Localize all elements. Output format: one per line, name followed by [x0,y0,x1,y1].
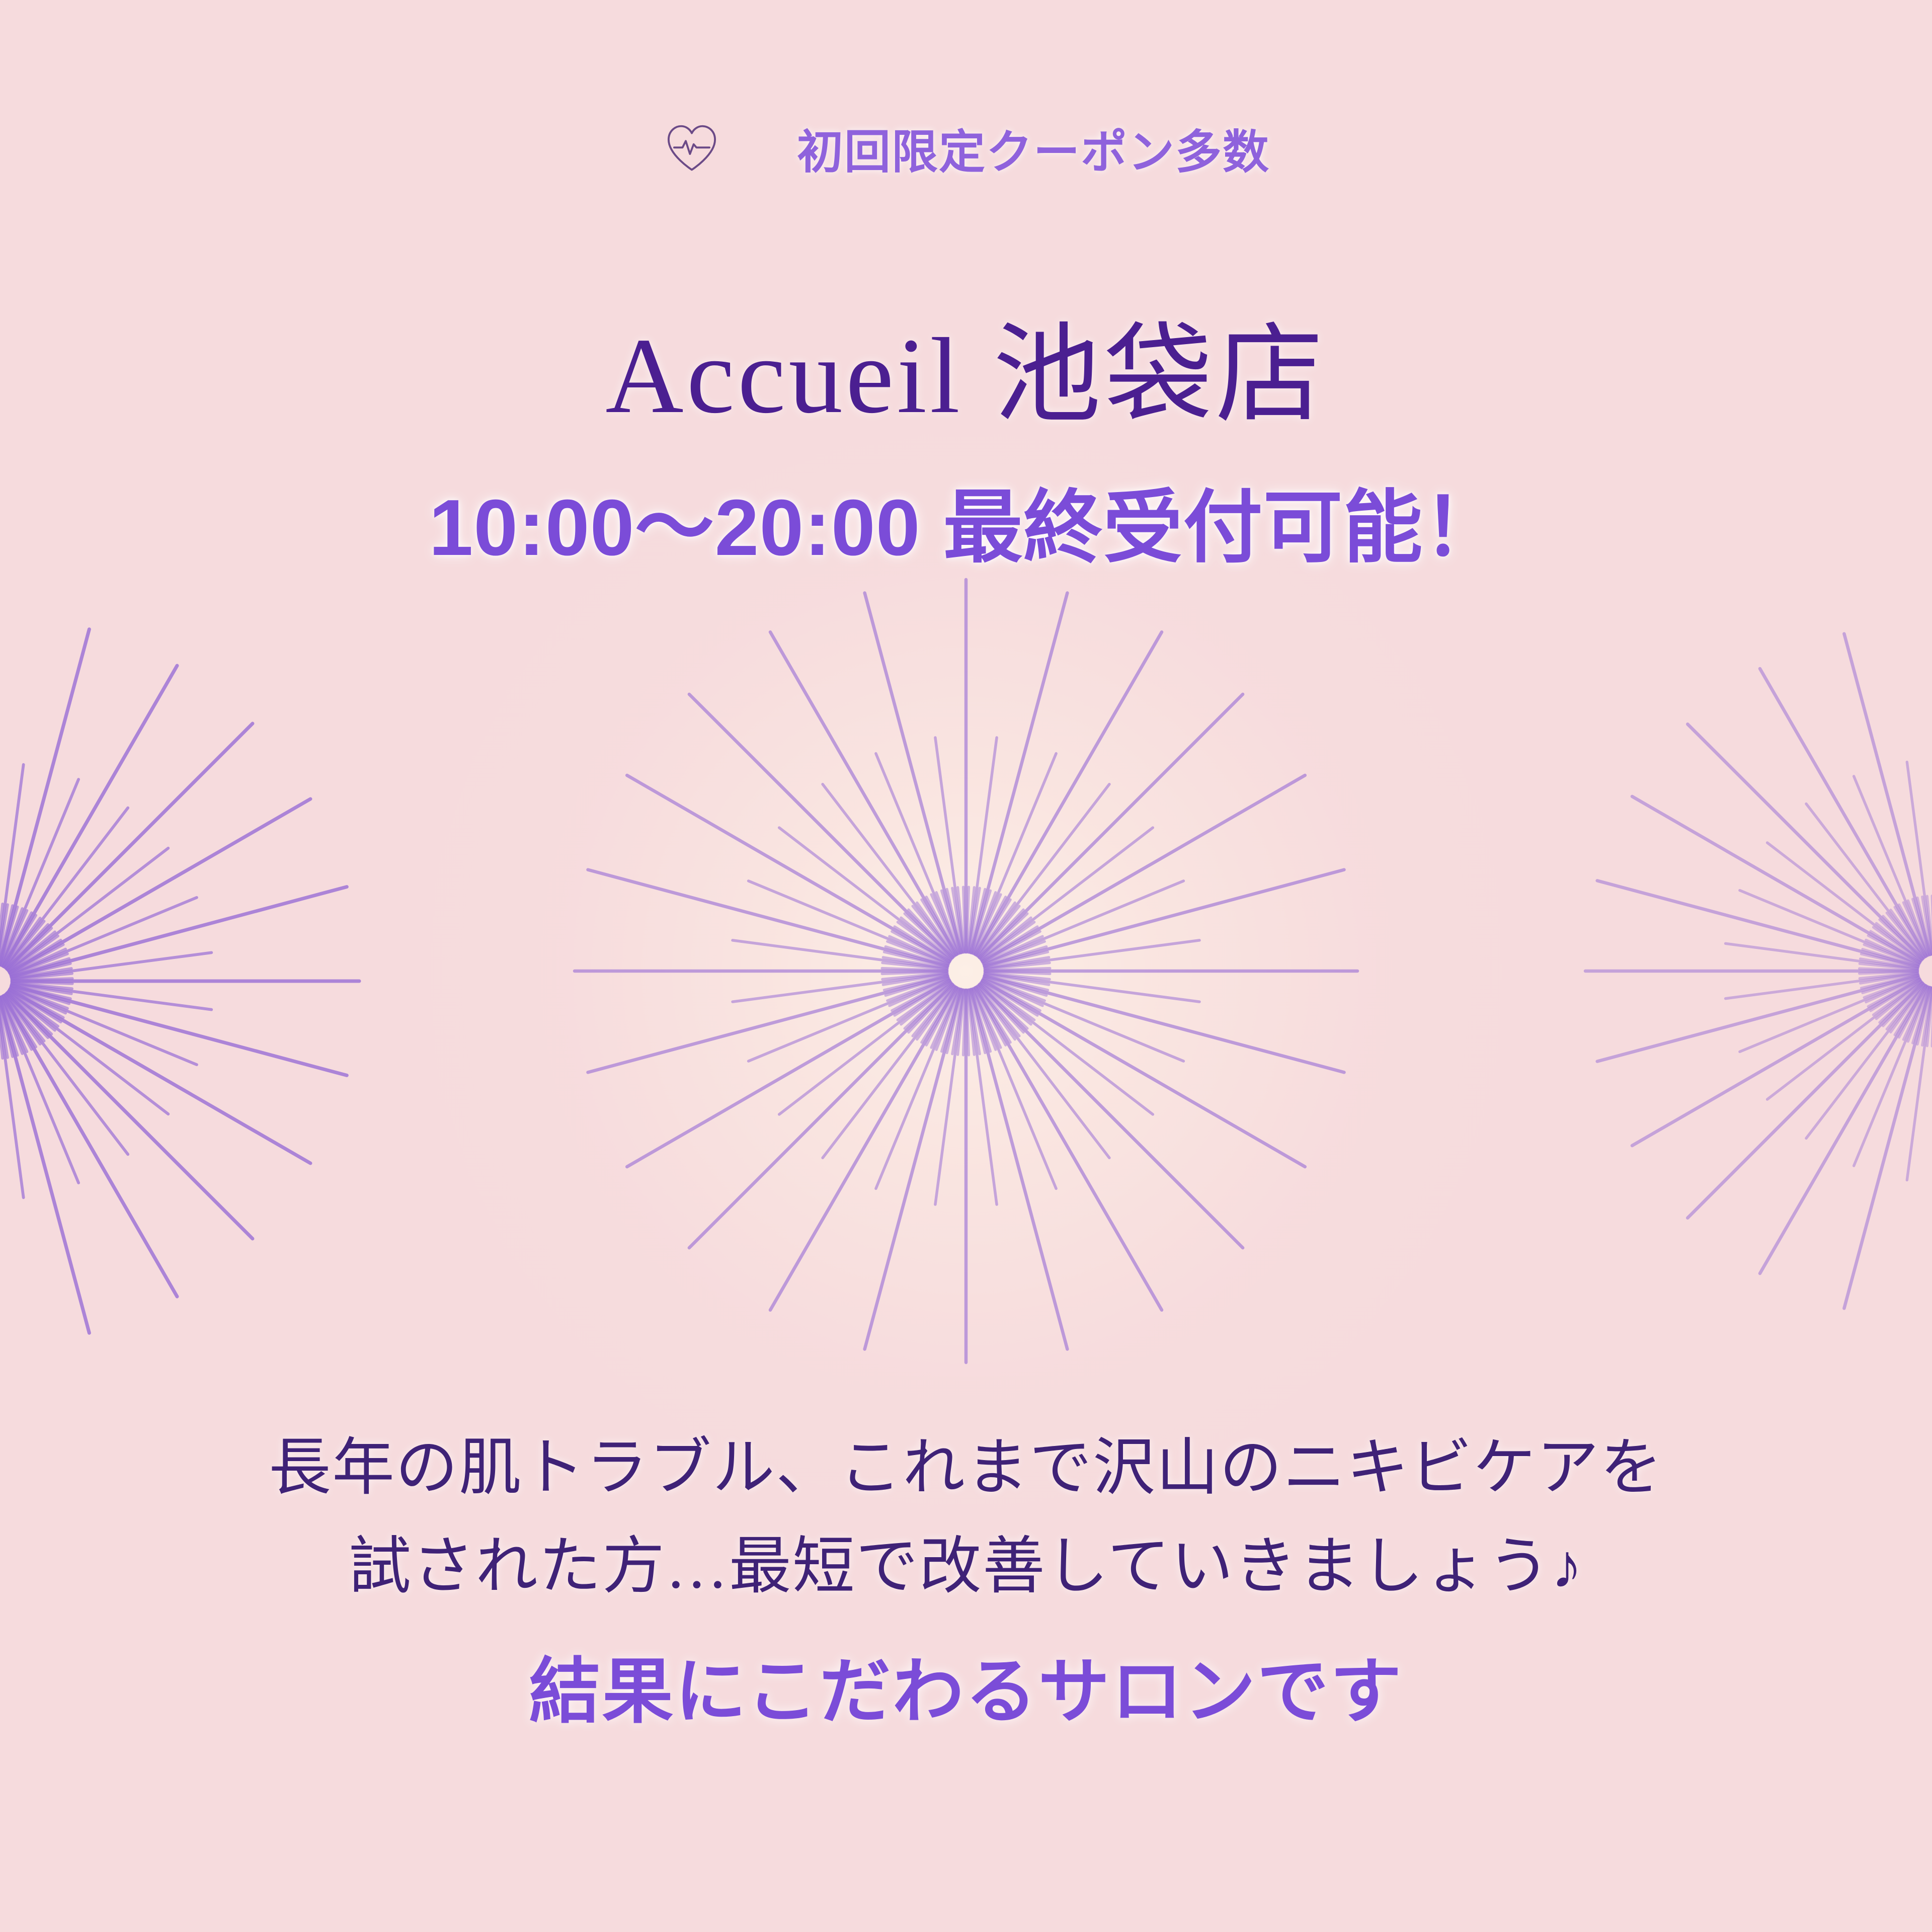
starburst-ray [917,903,955,955]
starburst-ray [4,995,36,1046]
starburst-ray [972,989,991,1052]
starburst-ray [926,988,957,1045]
starburst-ray [917,986,955,1039]
starburst-ray [1873,927,1920,961]
starburst-ray [770,632,956,954]
starburst-ray [977,903,1015,955]
starburst-ray [1868,936,1919,963]
starburst-ray [975,897,1006,954]
starburst-ray [883,974,947,985]
starburst-ray [942,891,961,953]
starburst-ray [11,988,197,1065]
starburst-ray [892,980,949,1011]
starburst-ray [969,738,997,952]
starburst-ray [974,895,1001,954]
starburst-ray [1891,985,1925,1032]
starburst-ray [1863,976,1918,993]
starburst-right [1557,594,1932,1348]
starburst-ray [12,952,212,979]
starburst-ray [588,870,948,967]
starburst-ray [882,973,947,980]
starburst-ray [11,985,70,999]
starburst-ray [980,984,1027,1028]
starburst-ray [892,931,949,962]
starburst-ray [952,888,963,952]
starburst-ray [898,982,950,1020]
starburst-ray [1861,974,1918,983]
starburst-ray [770,988,956,1310]
starburst-ray [1917,987,1930,1044]
starburst-ray [984,975,1048,990]
starburst-ray [985,974,1049,985]
starburst-ray [985,963,1050,970]
starburst-ray [588,976,948,1073]
starburst-ray [963,990,965,1055]
starburst-ray [0,997,13,1057]
starburst-ray [823,784,954,956]
starburst-ray [884,975,947,990]
starburst-ray [978,986,1109,1158]
page-title: Accueil 池袋店 [0,287,1932,443]
starburst-ray [10,944,63,973]
starburst-ray [979,985,1023,1032]
starburst-ray [779,828,951,959]
starburst-ray [981,983,1031,1024]
starburst-ray [968,888,975,952]
starburst-ray [10,799,310,973]
starburst-ray [1873,981,1920,1015]
starburst-ray [1927,896,1932,954]
starburst-ray [888,978,948,1001]
starburst-ray [971,990,1068,1349]
tagline-block: 長年の肌トラブル、これまで沢山のニキビケアを 試された方…最短で改善していきまし… [0,1419,1932,1737]
starburst-ray [1844,988,1930,1309]
starburst-ray [0,765,24,964]
starburst-ray [4,996,177,1297]
starburst-ray [1927,988,1932,1046]
starburst-ray [1854,776,1928,955]
starburst-left [0,579,397,1384]
starburst-ray [895,981,950,1016]
starburst-ray [905,984,952,1028]
starburst-ray [973,989,996,1050]
starburst-ray [1760,669,1926,956]
starburst-ray [0,997,18,1055]
starburst-ray [7,925,48,969]
starburst-ray [1726,943,1918,969]
starburst-ray [733,974,947,1002]
starburst-ray [1,909,23,965]
starburst-ray [947,989,961,1053]
starburst-ray [7,723,253,969]
starburst-ray [1871,980,1920,1011]
starburst-ray [9,848,168,971]
starburst-ray [898,922,950,960]
starburst-ray [968,990,975,1055]
starburst-ray [11,987,67,1009]
starburst-ray [1903,986,1927,1039]
tagline-line-1: 長年の肌トラブル、これまで沢山のニキビケアを [0,1419,1932,1517]
starburst-ray [984,947,1046,966]
starburst-ray [2,996,27,1052]
starburst-ray [6,808,128,968]
starburst-ray [1860,973,1918,978]
starburst-ray [11,958,69,976]
starburst-ray [913,986,954,1036]
starburst-ray [7,928,51,970]
starburst-ray [909,985,953,1032]
starburst-ray [749,979,948,1062]
starburst-ray [886,947,948,966]
starburst-ray [11,963,70,977]
starburst-ray [1740,978,1919,1052]
starburst-ray [12,983,72,989]
starburst-ray [5,995,40,1044]
starburst-ray [9,940,60,973]
starburst-ray [983,936,1042,963]
starburst-ray [978,784,1109,956]
starburst-ray [984,881,1183,964]
starburst-ray [1876,982,1921,1019]
starburst-ray [12,969,71,979]
starburst-ray [6,994,44,1041]
starburst-ray [865,593,961,953]
starburst-ray [969,990,997,1204]
starburst-ray [1767,982,1921,1099]
starburst-ray [1687,724,1922,959]
starburst-ray [970,889,985,952]
starburst-ray [11,986,69,1004]
starburst-ray [3,913,32,966]
starburst-ray [942,989,961,1052]
starburst-ray [952,990,963,1054]
starburst-ray [8,992,55,1030]
starburst-ray [890,936,949,963]
tagline-line-3: 結果にこだわるサロンです [0,1633,1932,1737]
starburst-ray [1597,976,1918,1062]
starburst-ray [1917,898,1930,954]
starburst-ray [971,593,1068,953]
starburst-ray [6,995,128,1154]
starburst-ray [1632,980,1920,1146]
starburst-ray [985,957,1049,968]
starburst-ray [905,914,952,958]
starburst-ray [981,983,1153,1114]
starburst-ray [982,981,1037,1016]
starburst-ray [913,906,954,956]
starburst-ray [0,998,8,1058]
starburst-ray [1740,891,1919,964]
starburst-ray [1880,983,1922,1022]
starburst-ray [974,988,1001,1048]
starburst-ray [970,989,985,1053]
starburst-ray [1903,903,1927,956]
starburst-ray [882,972,947,974]
starburst-ray [978,986,1019,1036]
starburst-ray [1863,949,1918,967]
starburst-ray [10,988,65,1013]
starburst-ray [882,963,947,970]
starburst-ray [976,900,1011,955]
starburst-ray [901,983,951,1024]
starburst-ray [0,907,18,965]
starburst-ray [984,952,1048,967]
starburst-ray [975,988,1006,1045]
starburst-ray [1806,985,1924,1138]
starburst-ray [983,981,1305,1167]
starburst-ray [1922,988,1932,1045]
starburst-ray [1844,634,1930,955]
starburst-ray [967,887,969,952]
starburst-ray [935,990,963,1204]
starburst-ray [4,666,177,967]
starburst-ray [0,998,24,1198]
starburst-ray [876,989,959,1188]
starburst-ray [733,940,947,969]
starburst-ray [976,988,1162,1310]
starburst-ray [883,957,947,968]
starburst-ray [12,982,72,984]
starburst-ray [1861,975,1918,988]
tagline-line-2: 試された方…最短で改善していきましょう♪ [0,1517,1932,1616]
starburst-ray [627,775,949,961]
starburst-ray [627,981,949,1167]
starburst-ray [865,990,961,1349]
starburst-ray [1597,880,1918,967]
starburst-ray [947,889,961,952]
starburst-ray [10,989,63,1018]
starburst-ray [884,952,947,967]
starburst-center [538,543,1394,1399]
starburst-ray [976,987,1011,1042]
starburst-ray [1899,905,1927,956]
starburst-ray [980,694,1243,957]
starburst-ray [3,996,32,1049]
heart-pulse-icon [662,119,721,178]
starburst-ray [983,775,1305,961]
starburst-ray [12,974,72,980]
starburst-ray [1895,985,1925,1035]
starburst-ray [876,754,959,953]
starburst-ray [1908,901,1928,955]
starburst-ray [979,910,1023,957]
starburst-ray [11,954,67,976]
starburst-ray [985,976,1344,1073]
starburst-ray [985,940,1199,969]
starburst-ray [749,881,948,964]
starburst-ray [1687,983,1922,1218]
starburst-ray [1861,954,1918,967]
starburst-ray [984,977,1046,996]
starburst-ray [981,922,1034,960]
starburst-ray [981,828,1153,959]
starburst-ray [969,888,980,952]
starburst-ray [1864,944,1919,965]
starburst-ray [1806,804,1924,957]
starburst-ray [936,893,959,953]
starburst-ray [1,997,23,1054]
starburst-ray [9,991,58,1026]
starburst-ray [1883,916,1923,959]
starburst-ray [931,988,958,1048]
starburst-ray [1871,931,1920,962]
starburst-ray [4,915,36,967]
starburst-ray [7,993,253,1239]
starburst-ray [974,754,1057,953]
starburst-ray [1913,987,1930,1043]
starburst-ray [909,910,953,957]
promo-poster: 初回限定クーポン多数 Accueil 池袋店 10:00〜20:00 最終受付可… [0,0,1932,1932]
starburst-ray [1907,762,1932,954]
starburst-ray [936,989,959,1050]
starburst-ray [1767,843,1921,960]
starburst-ray [974,989,1057,1188]
starburst-center-svg [538,543,1394,1399]
starburst-ray [7,993,48,1037]
starburst-ray [2,779,78,965]
starburst-right-svg [1557,594,1932,1348]
starburst-ray [0,629,89,964]
starburst-ray [9,990,60,1022]
starburst-ray [12,983,212,1009]
starburst-ray [967,990,969,1055]
starburst-ray [890,979,949,1006]
starburst-ray [969,990,980,1054]
starburst-ray [931,895,958,954]
starburst-ray [985,870,1344,967]
starburst-ray [980,985,1243,1248]
starburst-ray [985,972,1050,974]
starburst-ray [1922,897,1932,955]
starburst-ray [981,918,1031,959]
starburst-ray [963,887,965,952]
starburst-ray [935,738,963,952]
starburst-ray [0,906,13,965]
starburst-ray [1876,923,1921,960]
starburst-ray [1632,796,1920,962]
starburst-ray [978,906,1019,956]
starburst-ray [1908,987,1928,1041]
starburst-ray [6,921,44,968]
starburst-ray [983,931,1040,962]
starburst-ray [981,982,1034,1020]
starburst-ray [9,992,168,1114]
starburst-ray [1860,969,1918,971]
starburst-ray [972,891,991,953]
starburst-ray [2,997,78,1183]
starburst-ray [1913,899,1930,955]
starburst-ray [982,927,1037,961]
starburst-ray [12,979,72,981]
starburst-ray [0,905,8,964]
business-hours: 10:00〜20:00 最終受付可能！ [0,463,1932,578]
starburst-ray [1883,983,1923,1026]
starburst-ray [823,986,954,1158]
starburst-ray [1864,977,1919,998]
starburst-ray [689,694,952,957]
starburst-ray [1866,978,1919,1002]
starburst-ray [973,893,996,953]
starburst-ray [12,986,347,1076]
starburst-ray [977,986,1015,1039]
starburst-ray [10,990,310,1163]
starburst-ray [1860,972,1918,974]
starburst-ray [984,941,1044,964]
starburst-ray [1907,988,1932,1180]
starburst-ray [11,898,197,975]
coupon-badge-text: 初回限定クーポン多数 [797,115,1270,182]
starburst-ray [958,888,964,952]
starburst-ray [985,969,1050,971]
starburst-ray [1861,959,1918,969]
starburst-ray [926,897,957,954]
starburst-ray [5,918,40,968]
starburst-ray [10,949,65,974]
starburst-ray [984,979,1183,1062]
starburst-ray [976,632,1162,954]
starburst-ray [7,993,51,1034]
starburst-ray [1895,907,1925,957]
starburst-ray [1887,984,1924,1029]
starburst-ray [0,998,3,1058]
starburst-ray [985,973,1050,980]
starburst-ray [895,927,950,961]
starburst-ray [901,918,951,959]
starburst-ray [1866,940,1919,964]
starburst-ray [1854,987,1928,1166]
starburst-ray [922,900,956,955]
starburst-ray [689,985,952,1248]
starburst-ray [882,969,947,971]
starburst-ray [1899,986,1927,1037]
starburst-ray [2,911,27,966]
starburst-ray [12,984,71,994]
starburst-ray [1726,973,1918,998]
starburst-ray [8,932,55,971]
starburst-ray [983,980,1040,1011]
starburst-ray [985,974,1199,1002]
starburst-ray [980,914,1027,958]
starburst-ray [958,990,964,1055]
starburst-ray [922,987,956,1042]
starburst-ray [12,887,347,977]
starburst-ray [886,977,948,996]
starburst-ray [779,983,951,1114]
starburst-ray [1880,920,1922,959]
starburst-ray [984,978,1044,1001]
header-badge: 初回限定クーポン多数 [0,115,1932,182]
starburst-ray [1887,913,1924,958]
starburst-left-svg [0,579,397,1384]
starburst-ray [1891,910,1925,957]
starburst-ray [888,941,948,964]
starburst-ray [0,998,89,1333]
starburst-ray [983,979,1042,1006]
starburst-ray [1868,979,1919,1007]
starburst-ray [1760,986,1926,1273]
starburst-ray [0,904,3,964]
starburst-ray [9,936,58,971]
starburst-ray [1860,963,1918,969]
